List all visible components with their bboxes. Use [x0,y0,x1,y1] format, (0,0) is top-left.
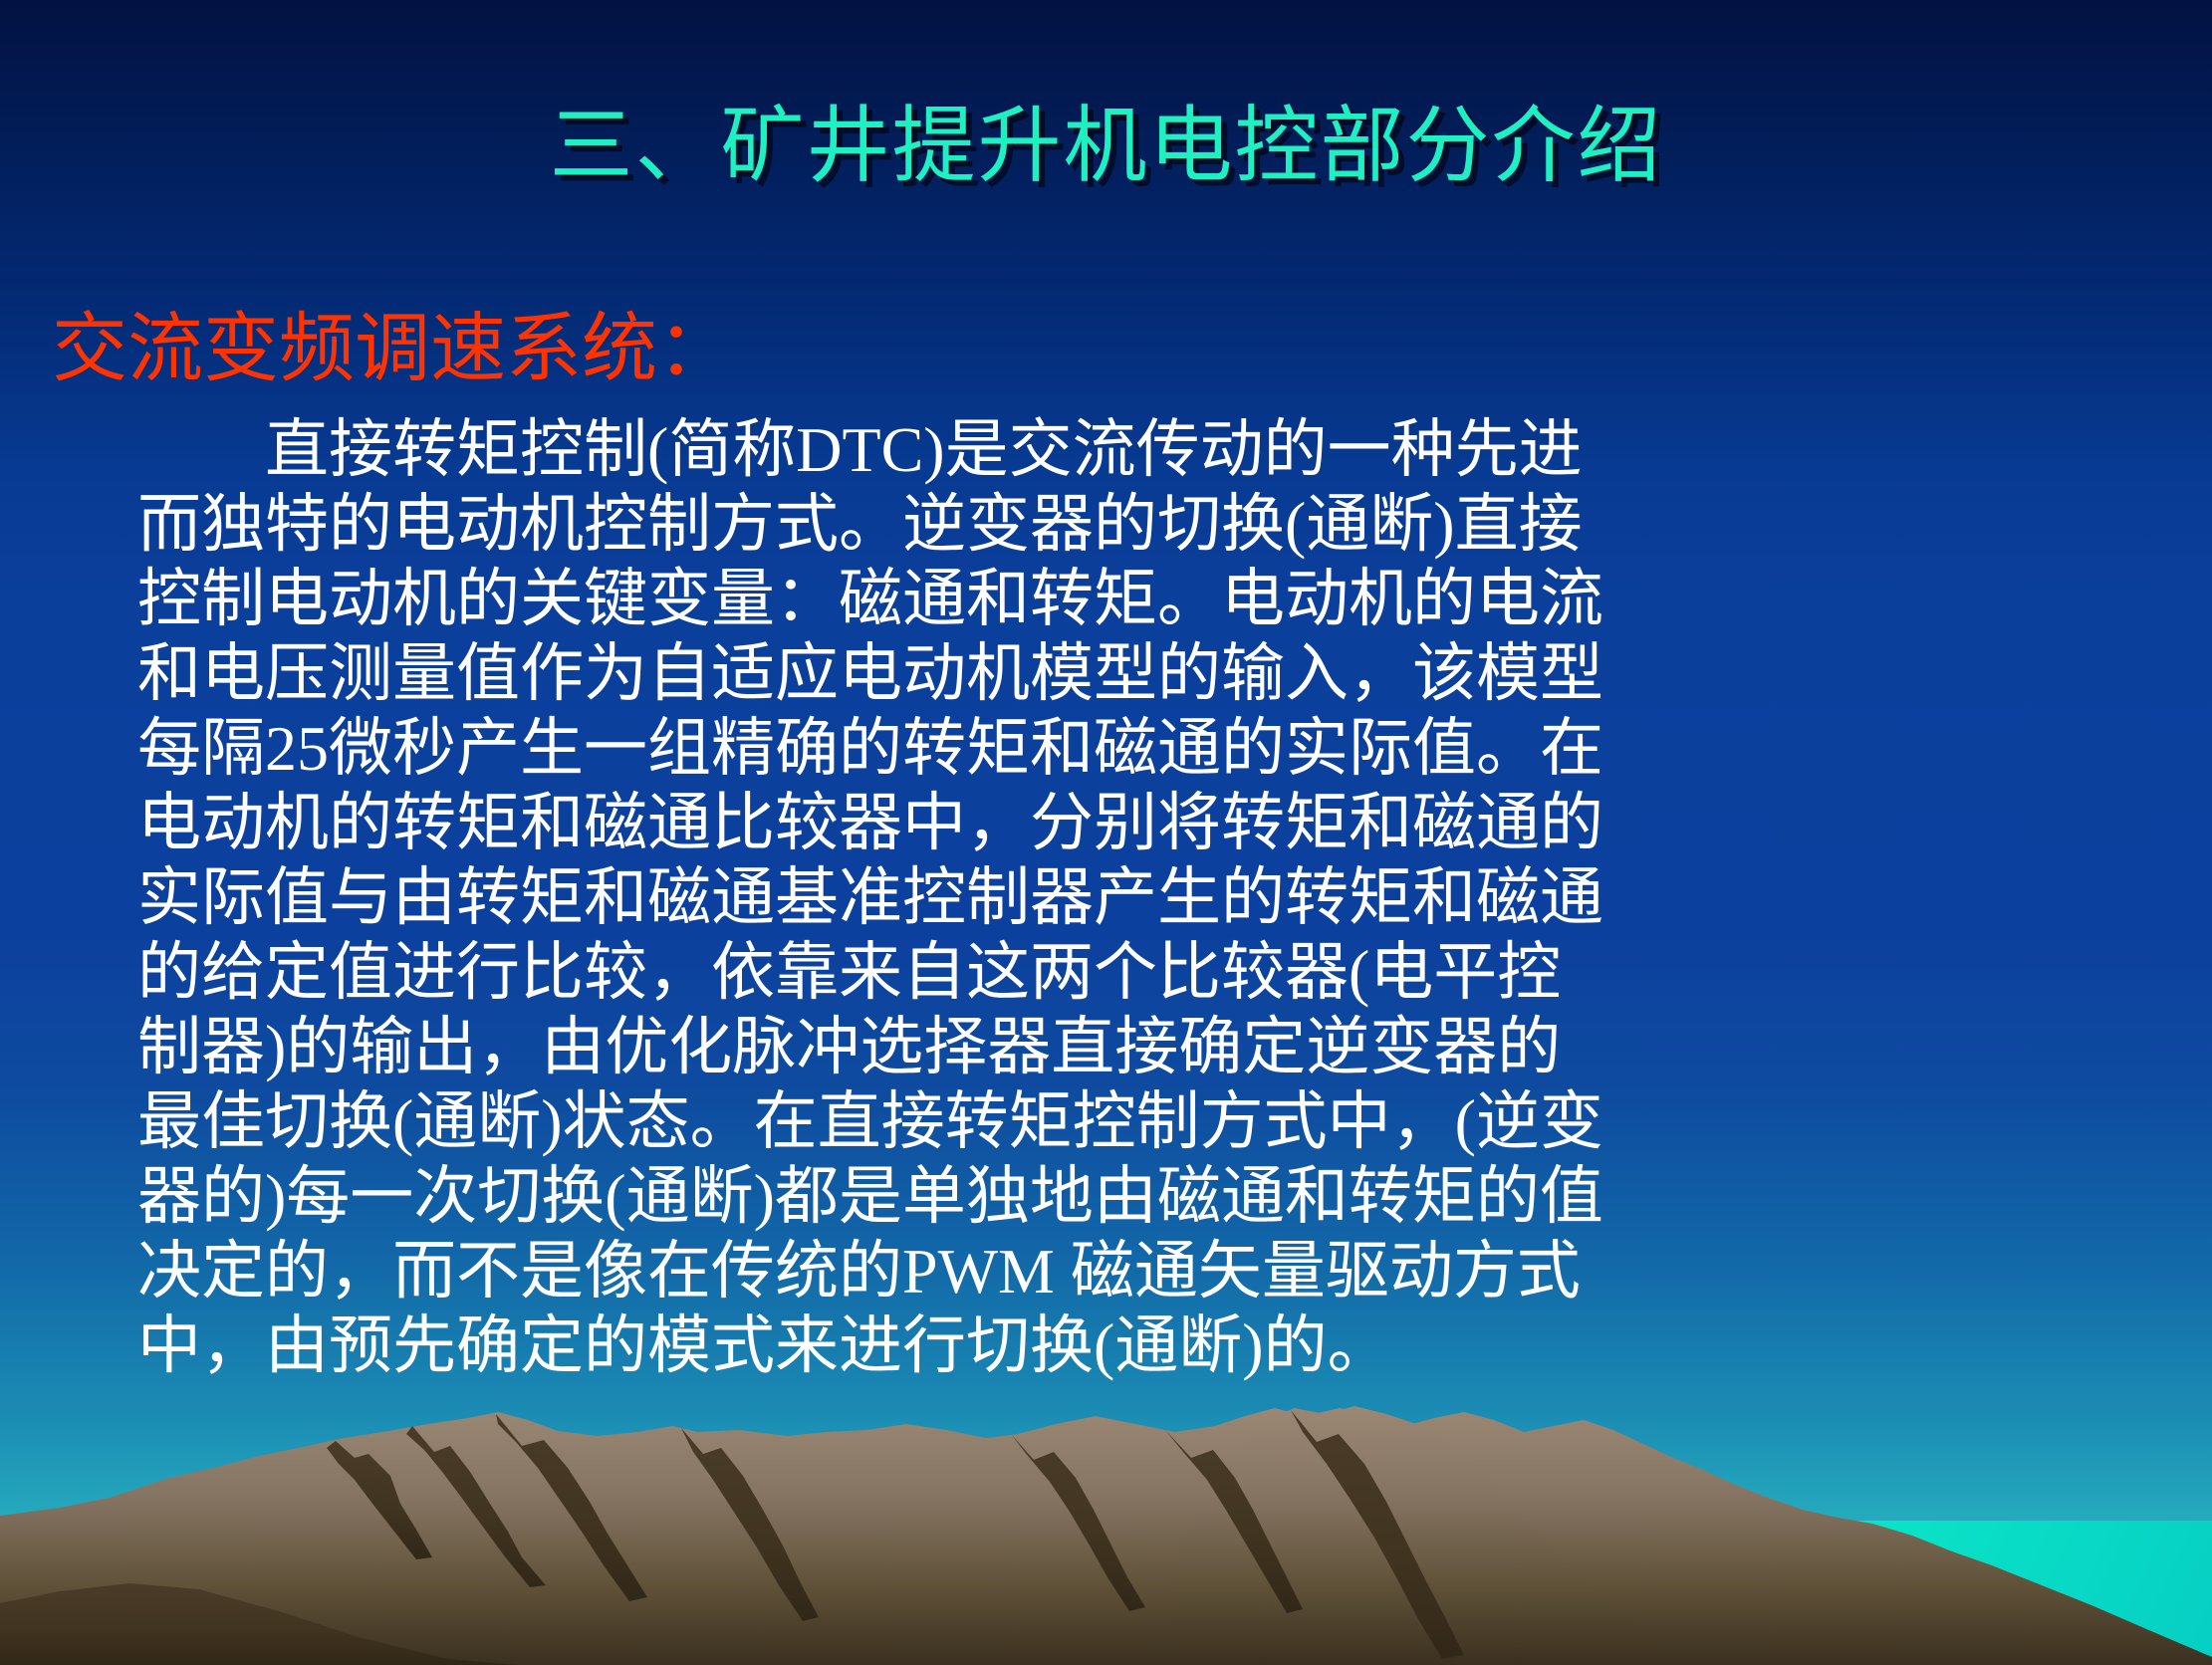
body-line: 中，由预先确定的模式来进行切换(通断)的。 [137,1308,2195,1383]
body-line: 和电压测量值作为自适应电动机模型的输入，该模型 [137,636,2195,711]
presentation-slide: 三、矿井提升机电控部分介绍 交流变频调速系统： 直接转矩控制(简称DTC)是交流… [0,0,2212,1665]
body-line-text: 器的)每一次切换(通断)都是单独地由磁通和转矩的值 [137,1161,1603,1232]
body-line-text: 和电压测量值作为自适应电动机模型的输入，该模型 [137,638,1603,709]
body-line-text: 每隔25微秒产生一组精确的转矩和磁通的实际值。在 [137,713,1603,784]
body-line: 的给定值进行比较，依靠来自这两个比较器(电平控 [137,935,2195,1010]
body-line: 控制电动机的关键变量：磁通和转矩。电动机的电流 [137,562,2195,636]
body-line: 每隔25微秒产生一组精确的转矩和磁通的实际值。在 [137,711,2195,786]
slide-title: 三、矿井提升机电控部分介绍 [0,96,2212,195]
body-line: 最佳切换(通断)状态。在直接转矩控制方式中，(逆变 [137,1084,2195,1159]
body-line: 实际值与由转矩和磁通基准控制器产生的转矩和磁通 [137,860,2195,935]
body-line-text: 中，由预先确定的模式来进行切换(通断)的。 [137,1310,1391,1381]
body-line: 制器)的输出，由优化脉冲选择器直接确定逆变器的 [137,1010,2195,1084]
body-line-text: 而独特的电动机控制方式。逆变器的切换(通断)直接 [137,489,1583,560]
body-line-text: 制器)的输出，由优化脉冲选择器直接确定逆变器的 [137,1012,1561,1082]
body-line: 而独特的电动机控制方式。逆变器的切换(通断)直接 [137,487,2195,562]
mountain-silhouette-graphic [0,1406,2212,1665]
body-line-text: 电动机的转矩和磁通比较器中，分别将转矩和磁通的 [137,788,1603,858]
body-line: 电动机的转矩和磁通比较器中，分别将转矩和磁通的 [137,786,2195,860]
body-line-text: 控制电动机的关键变量：磁通和转矩。电动机的电流 [137,564,1603,634]
body-line-text: 直接转矩控制(简称DTC)是交流传动的一种先进 [265,414,1583,485]
slide-body-text: 直接转矩控制(简称DTC)是交流传动的一种先进 而独特的电动机控制方式。逆变器的… [137,412,2195,1383]
body-line-text: 实际值与由转矩和磁通基准控制器产生的转矩和磁通 [137,862,1603,933]
body-line: 直接转矩控制(简称DTC)是交流传动的一种先进 [137,412,2195,487]
body-line-text: 的给定值进行比较，依靠来自这两个比较器(电平控 [137,937,1561,1008]
slide-subtitle: 交流变频调速系统： [52,305,733,394]
body-line-text: 最佳切换(通断)状态。在直接转矩控制方式中，(逆变 [137,1086,1603,1157]
body-line: 决定的，而不是像在传统的PWM 磁通矢量驱动方式 [137,1234,2195,1308]
body-line: 器的)每一次切换(通断)都是单独地由磁通和转矩的值 [137,1159,2195,1234]
body-line-text: 决定的，而不是像在传统的PWM 磁通矢量驱动方式 [137,1236,1581,1307]
